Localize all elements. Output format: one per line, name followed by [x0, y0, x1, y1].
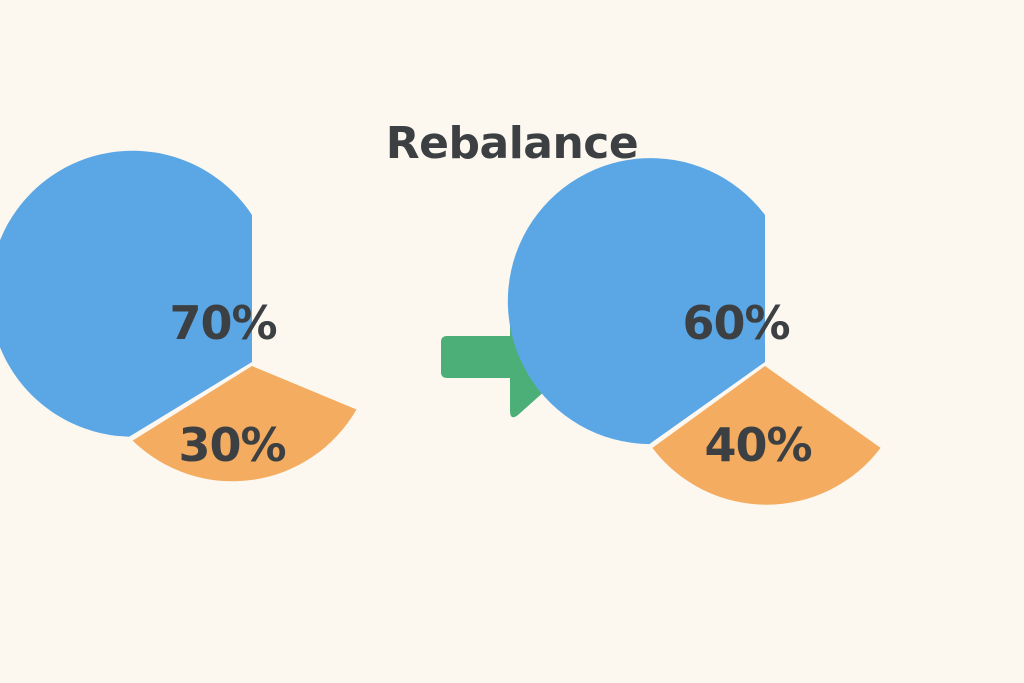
pie-before-blue-label: 70% [169, 296, 276, 350]
pie-before-svg: 70% 30% [107, 213, 397, 503]
pie-chart-before: 70% 30% [107, 213, 397, 503]
pie-before-orange-label: 30% [178, 418, 285, 472]
pie-after-svg: 60% 40% [620, 213, 910, 503]
chart-canvas: Rebalance 70% 30% 60% 40% [0, 0, 1024, 683]
pie-chart-after: 60% 40% [620, 213, 910, 503]
pie-after-blue-label: 60% [682, 296, 789, 350]
pie-after-orange-label: 40% [704, 418, 811, 472]
